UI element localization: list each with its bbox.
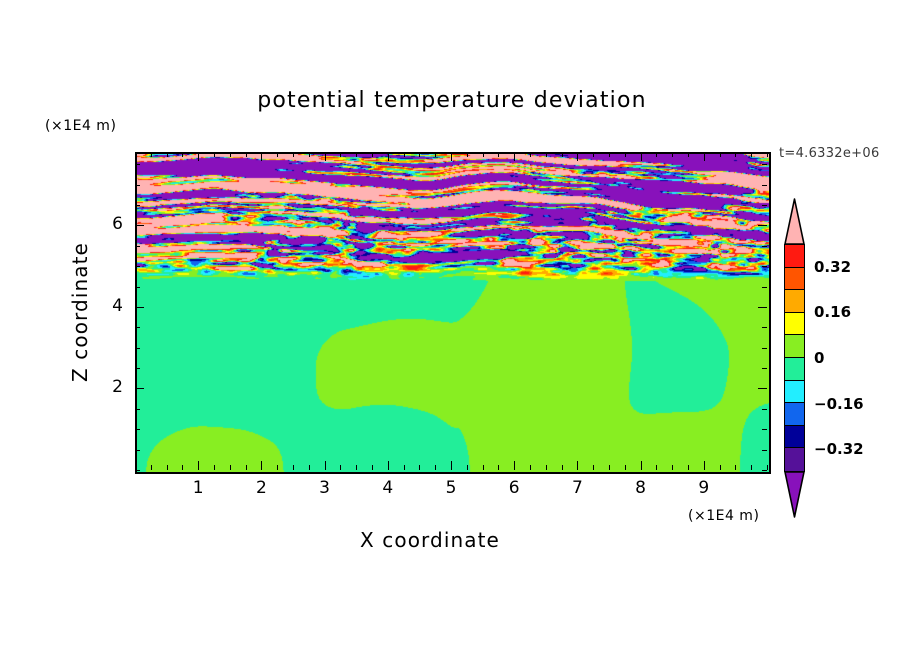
colorbar-band [785, 403, 804, 426]
colorbar-band [785, 448, 804, 471]
x-axis-minor-tick [751, 152, 752, 157]
x-axis-minor-tick [404, 152, 405, 157]
x-axis-tick-label: 1 [183, 478, 213, 498]
x-axis-tick-label: 9 [689, 478, 719, 498]
x-axis-minor-tick [214, 465, 215, 470]
x-axis-minor-tick [672, 465, 673, 470]
x-axis-minor-tick [546, 465, 547, 470]
x-axis-minor-tick [182, 152, 183, 157]
x-axis-minor-tick [277, 465, 278, 470]
x-axis-minor-tick [230, 152, 231, 157]
x-axis-minor-tick [609, 152, 610, 157]
x-axis-tick [704, 461, 705, 470]
x-axis-minor-tick [530, 152, 531, 157]
y-axis-minor-tick [135, 185, 140, 186]
x-axis-units-label: (×1E4 m) [688, 508, 759, 524]
y-axis-tick-label: 4 [93, 296, 123, 316]
x-axis-tick [451, 461, 452, 470]
x-axis-minor-tick [182, 465, 183, 470]
y-axis-minor-tick [762, 409, 767, 410]
colorbar-band [785, 268, 804, 291]
y-axis-tick [135, 388, 144, 389]
x-axis-minor-tick [293, 465, 294, 470]
x-axis-minor-tick [246, 152, 247, 157]
y-axis-label: Z coordinate [68, 212, 92, 412]
x-axis-minor-tick [498, 152, 499, 157]
colorbar-band [785, 245, 804, 268]
x-axis-minor-tick [419, 152, 420, 157]
colorbar-tick-label: −0.32 [814, 440, 864, 458]
colorbar-band [785, 358, 804, 381]
x-axis-tick-label: 4 [373, 478, 403, 498]
y-axis-minor-tick [135, 429, 140, 430]
x-axis-minor-tick [656, 465, 657, 470]
colorbar-tick-label: −0.16 [814, 395, 864, 413]
x-axis-tick [388, 461, 389, 470]
x-axis-tick [388, 152, 389, 161]
y-axis-minor-tick [135, 409, 140, 410]
x-axis-tick [261, 152, 262, 161]
y-axis-tick-label: 6 [93, 214, 123, 234]
x-axis-minor-tick [340, 465, 341, 470]
x-axis-minor-tick [309, 152, 310, 157]
x-axis-tick-label: 7 [562, 478, 592, 498]
x-axis-minor-tick [435, 465, 436, 470]
x-axis-minor-tick [720, 465, 721, 470]
x-axis-minor-tick [562, 465, 563, 470]
x-axis-minor-tick [735, 465, 736, 470]
x-axis-minor-tick [609, 465, 610, 470]
x-axis-minor-tick [277, 152, 278, 157]
x-axis-minor-tick [372, 465, 373, 470]
figure-root: potential temperature deviation (×1E4 m)… [0, 0, 904, 654]
y-axis-minor-tick [135, 450, 140, 451]
x-axis-minor-tick [214, 152, 215, 157]
x-axis-minor-tick [656, 152, 657, 157]
colorbar-band [785, 313, 804, 336]
x-axis-minor-tick [435, 152, 436, 157]
y-axis-tick [135, 225, 144, 226]
x-axis-tick [451, 152, 452, 161]
y-axis-minor-tick [135, 246, 140, 247]
x-axis-minor-tick [672, 152, 673, 157]
colorbar-band [785, 381, 804, 404]
colorbar-tick-label: 0.32 [814, 258, 851, 276]
x-axis-tick [704, 152, 705, 161]
y-axis-minor-tick [135, 327, 140, 328]
x-axis-minor-tick [483, 152, 484, 157]
x-axis-minor-tick [467, 465, 468, 470]
x-axis-minor-tick [562, 152, 563, 157]
x-axis-minor-tick [625, 465, 626, 470]
colorbar-band [785, 335, 804, 358]
x-axis-minor-tick [151, 465, 152, 470]
y-axis-minor-tick [762, 205, 767, 206]
x-axis-tick-label: 8 [626, 478, 656, 498]
x-axis-minor-tick [546, 152, 547, 157]
contour-plot-area [135, 152, 771, 474]
x-axis-tick-label: 2 [246, 478, 276, 498]
x-axis-minor-tick [498, 465, 499, 470]
x-axis-tick [577, 152, 578, 161]
chart-title-text: potential temperature deviation [257, 88, 647, 113]
x-axis-minor-tick [751, 465, 752, 470]
x-axis-tick [641, 152, 642, 161]
y-axis-minor-tick [135, 205, 140, 206]
x-axis-tick [325, 152, 326, 161]
x-axis-minor-tick [483, 465, 484, 470]
x-axis-minor-tick [735, 152, 736, 157]
x-axis-minor-tick [419, 465, 420, 470]
x-axis-minor-tick [593, 152, 594, 157]
y-axis-minor-tick [762, 450, 767, 451]
colorbar-tick-label: 0 [814, 349, 824, 367]
x-axis-tick [641, 461, 642, 470]
x-axis-tick [514, 152, 515, 161]
y-axis-minor-tick [135, 164, 140, 165]
time-annotation: t=4.6332e+06 [779, 146, 880, 161]
x-axis-tick [198, 461, 199, 470]
x-axis-minor-tick [720, 152, 721, 157]
y-axis-minor-tick [762, 429, 767, 430]
y-axis-tick [758, 225, 767, 226]
x-axis-tick [325, 461, 326, 470]
y-axis-minor-tick [762, 164, 767, 165]
colorbar-over-arrow-icon [784, 198, 805, 245]
x-axis-minor-tick [688, 152, 689, 157]
y-axis-minor-tick [762, 470, 767, 471]
x-axis-label: X coordinate [270, 528, 590, 552]
y-axis-tick [758, 388, 767, 389]
x-axis-tick [198, 152, 199, 161]
x-axis-tick-label: 6 [499, 478, 529, 498]
x-axis-minor-tick [167, 152, 168, 157]
y-axis-tick [135, 307, 144, 308]
y-axis-tick [758, 307, 767, 308]
colorbar-band [785, 426, 804, 449]
colorbar-tick-label: 0.16 [814, 303, 851, 321]
x-axis-minor-tick [404, 465, 405, 470]
x-axis-minor-tick [293, 152, 294, 157]
x-axis-minor-tick [530, 465, 531, 470]
x-axis-minor-tick [372, 152, 373, 157]
y-axis-minor-tick [762, 266, 767, 267]
x-axis-minor-tick [230, 465, 231, 470]
y-axis-minor-tick [135, 348, 140, 349]
x-axis-tick-label: 3 [310, 478, 340, 498]
x-axis-tick [261, 461, 262, 470]
y-axis-minor-tick [762, 287, 767, 288]
x-axis-minor-tick [135, 152, 136, 157]
x-axis-tick [577, 461, 578, 470]
x-axis-minor-tick [356, 465, 357, 470]
chart-title: potential temperature deviation [0, 88, 904, 113]
x-axis-minor-tick [625, 152, 626, 157]
y-axis-minor-tick [135, 266, 140, 267]
y-axis-minor-tick [762, 368, 767, 369]
y-axis-tick-label: 2 [93, 377, 123, 397]
x-axis-tick-label: 5 [436, 478, 466, 498]
y-axis-minor-tick [762, 185, 767, 186]
x-axis-minor-tick [340, 152, 341, 157]
y-axis-minor-tick [135, 287, 140, 288]
y-axis-minor-tick [762, 246, 767, 247]
colorbar: 0.320.160−0.16−0.32 [780, 198, 810, 518]
y-axis-minor-tick [135, 368, 140, 369]
y-axis-minor-tick [762, 348, 767, 349]
y-axis-units-label: (×1E4 m) [45, 118, 116, 134]
x-axis-minor-tick [309, 465, 310, 470]
x-axis-minor-tick [467, 152, 468, 157]
colorbar-band [785, 290, 804, 313]
colorbar-bands [784, 244, 805, 472]
x-axis-minor-tick [767, 465, 768, 470]
x-axis-minor-tick [167, 465, 168, 470]
y-axis-minor-tick [135, 470, 140, 471]
x-axis-minor-tick [356, 152, 357, 157]
contour-field-canvas [137, 154, 769, 472]
x-axis-minor-tick [246, 465, 247, 470]
x-axis-minor-tick [767, 152, 768, 157]
x-axis-tick [514, 461, 515, 470]
x-axis-minor-tick [688, 465, 689, 470]
y-axis-minor-tick [762, 327, 767, 328]
x-axis-minor-tick [593, 465, 594, 470]
colorbar-under-arrow-icon [784, 471, 805, 518]
x-axis-minor-tick [151, 152, 152, 157]
